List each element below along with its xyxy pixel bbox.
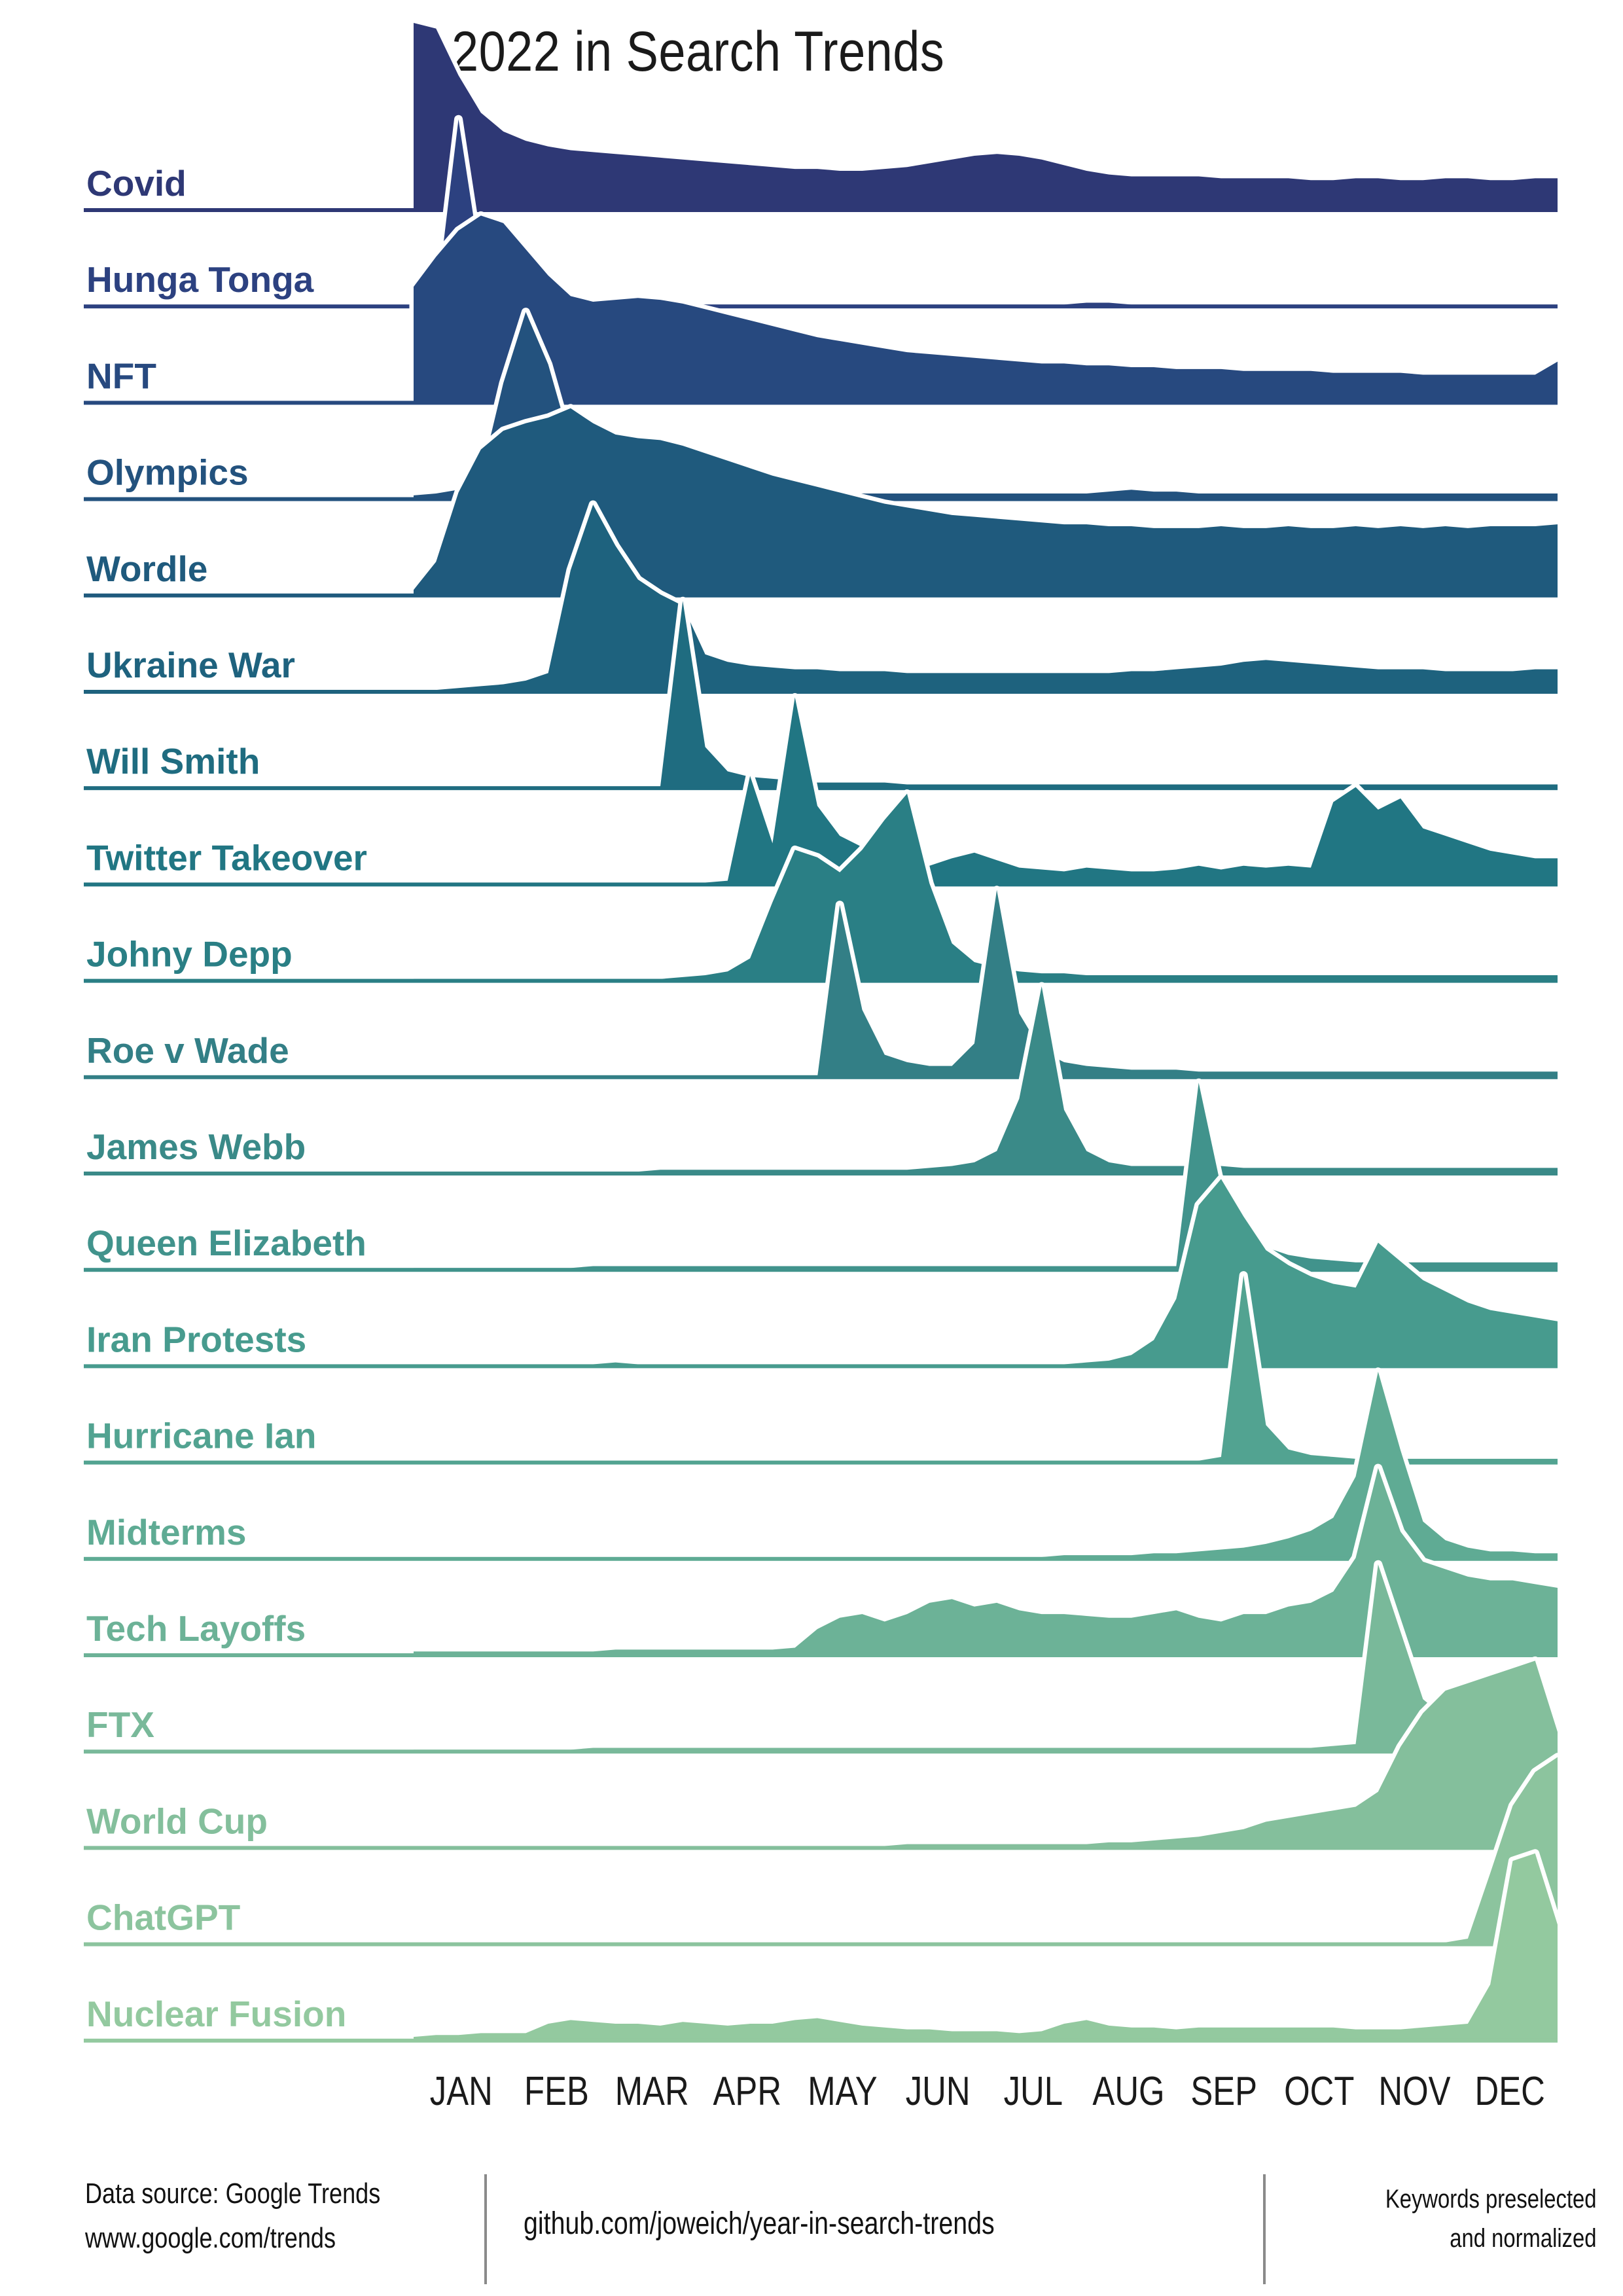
x-tick-label-aug: AUG [1092, 2069, 1164, 2114]
ridge-row: Covid [84, 23, 1558, 212]
x-tick-label-feb: FEB [524, 2069, 589, 2114]
ridge-row-label: James Webb [86, 1126, 306, 1167]
ridge-baseline-rule [84, 1364, 1558, 1368]
ridge-row-label: Wordle [86, 548, 207, 589]
x-tick-label-mar: MAR [615, 2069, 689, 2114]
x-tick-label-jul: JUL [1004, 2069, 1063, 2114]
ridge-baseline-rule [84, 594, 1558, 598]
ridge-row-label: Iran Protests [86, 1319, 306, 1359]
footer-note-line2: and normalized [1385, 2219, 1597, 2258]
ridge-row-label: ChatGPT [86, 1897, 240, 1938]
ridge-baseline-rule [84, 786, 1558, 790]
ridge-row-label: Queen Elizabeth [86, 1223, 366, 1263]
ridge-row-label: Will Smith [86, 741, 260, 781]
ridge-baseline-rule [84, 208, 1558, 212]
ridge-row-label: Covid [86, 163, 187, 204]
ridge-baseline-rule [84, 1461, 1558, 1465]
poster-canvas: 2022 in Search Trends CovidHunga TongaNF… [0, 0, 1623, 2296]
ridge-baseline-rule [84, 1653, 1558, 1657]
ridge-row-label: NFT [86, 355, 156, 396]
ridge-row-label: Olympics [86, 452, 249, 493]
ridge-baseline-rule [84, 401, 1558, 404]
ridge-row-label: Johny Depp [86, 934, 293, 975]
x-tick-label-jan: JAN [430, 2069, 493, 2114]
x-tick-label-nov: NOV [1378, 2069, 1450, 2114]
x-tick-label-dec: DEC [1475, 2069, 1545, 2114]
ridge-row-label: Roe v Wade [86, 1030, 289, 1071]
ridge-baseline-rule [84, 1846, 1558, 1850]
ridge-row-label: Hunga Tonga [86, 259, 314, 300]
x-tick-label-apr: APR [713, 2069, 782, 2114]
ridge-baseline-rule [84, 2039, 1558, 2043]
x-tick-label-jun: JUN [906, 2069, 971, 2114]
ridge-row-label: Tech Layoffs [86, 1608, 306, 1649]
x-axis-month-labels: JANFEBMARAPRMAYJUNJULAUGSEPOCTNOVDEC [430, 2069, 1545, 2114]
ridge-baseline-rule [84, 1172, 1558, 1175]
ridge-baseline-rule [84, 1557, 1558, 1561]
ridge-baseline-rule [84, 304, 1558, 308]
ridge-row-label: Midterms [86, 1512, 247, 1552]
footer-note: Keywords preselected and normalized [1385, 2179, 1597, 2258]
ridge-row-label: Hurricane Ian [86, 1416, 317, 1456]
footer-divider-right [1263, 2174, 1266, 2284]
ridge-baseline-rule [84, 1075, 1558, 1079]
ridge-row-label: FTX [86, 1704, 154, 1745]
x-tick-label-may: MAY [808, 2069, 877, 2114]
footer-source: Data source: Google Trends www.google.co… [85, 2172, 380, 2261]
footer-note-line1: Keywords preselected [1385, 2179, 1597, 2219]
ridge-baseline-rule [84, 1268, 1558, 1272]
ridge-baseline-rule [84, 1749, 1558, 1753]
ridge-row-label: Twitter Takeover [86, 837, 367, 878]
x-tick-label-oct: OCT [1284, 2069, 1354, 2114]
footer-source-line2: www.google.com/trends [85, 2216, 380, 2261]
ridge-baseline-rule [84, 1943, 1558, 1946]
ridge-row-label: Nuclear Fusion [86, 1994, 346, 2034]
ridge-row-label: World Cup [86, 1801, 268, 1841]
ridgeline-chart: CovidHunga TongaNFTOlympicsWordleUkraine… [0, 0, 1623, 2296]
ridge-row-label: Ukraine War [86, 645, 295, 685]
footer-divider-left [484, 2174, 487, 2284]
footer-source-line1: Data source: Google Trends [85, 2172, 380, 2216]
ridge-area [414, 23, 1558, 210]
footer-repo-link[interactable]: github.com/joweich/year-in-search-trends [524, 2206, 995, 2242]
ridge-rows-group: CovidHunga TongaNFTOlympicsWordleUkraine… [84, 23, 1558, 2043]
ridge-baseline-rule [84, 690, 1558, 694]
ridge-baseline-rule [84, 979, 1558, 983]
x-tick-label-sep: SEP [1190, 2069, 1257, 2114]
